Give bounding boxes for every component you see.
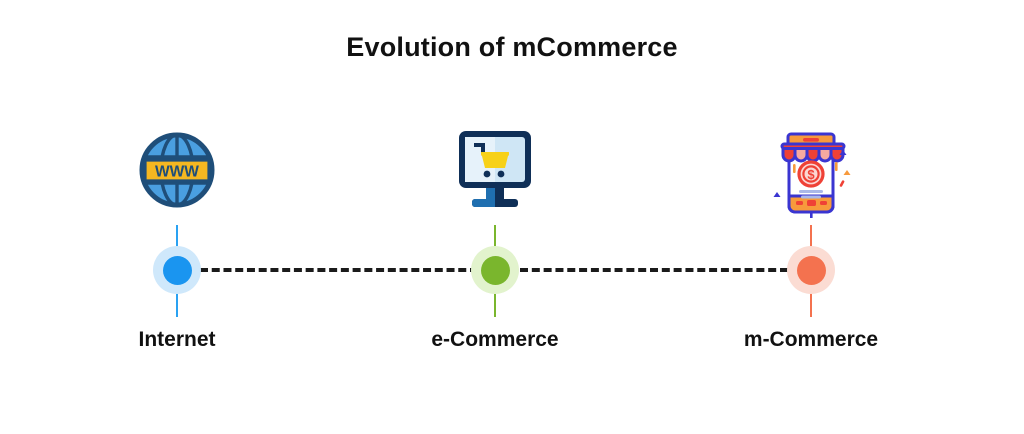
timeline-stage-internet[interactable]: WWW Internet	[67, 0, 287, 434]
globe-www-icon: WWW	[67, 122, 287, 218]
timeline-node-internet[interactable]	[129, 246, 225, 294]
stage-label-mcommerce: m-Commerce	[681, 328, 941, 352]
node-dot	[163, 256, 192, 285]
desktop-shopping-cart-icon	[385, 122, 605, 218]
timeline-stage-ecommerce[interactable]: e-Commerce	[385, 0, 605, 434]
stage-label-internet: Internet	[47, 328, 307, 352]
node-dot	[481, 256, 510, 285]
svg-text:$: $	[807, 167, 815, 182]
stage-label-ecommerce: e-Commerce	[365, 328, 625, 352]
infographic-canvas: Evolution of mCommerce WWW	[0, 0, 1024, 434]
globe-banner-text: WWW	[155, 164, 199, 181]
timeline-node-mcommerce[interactable]	[763, 246, 859, 294]
timeline: WWW Internet	[0, 0, 1024, 434]
timeline-node-ecommerce[interactable]	[447, 246, 543, 294]
mobile-storefront-icon: $	[701, 122, 921, 218]
node-dot	[797, 256, 826, 285]
timeline-stage-mcommerce[interactable]: $ m-Commerce	[701, 0, 921, 434]
